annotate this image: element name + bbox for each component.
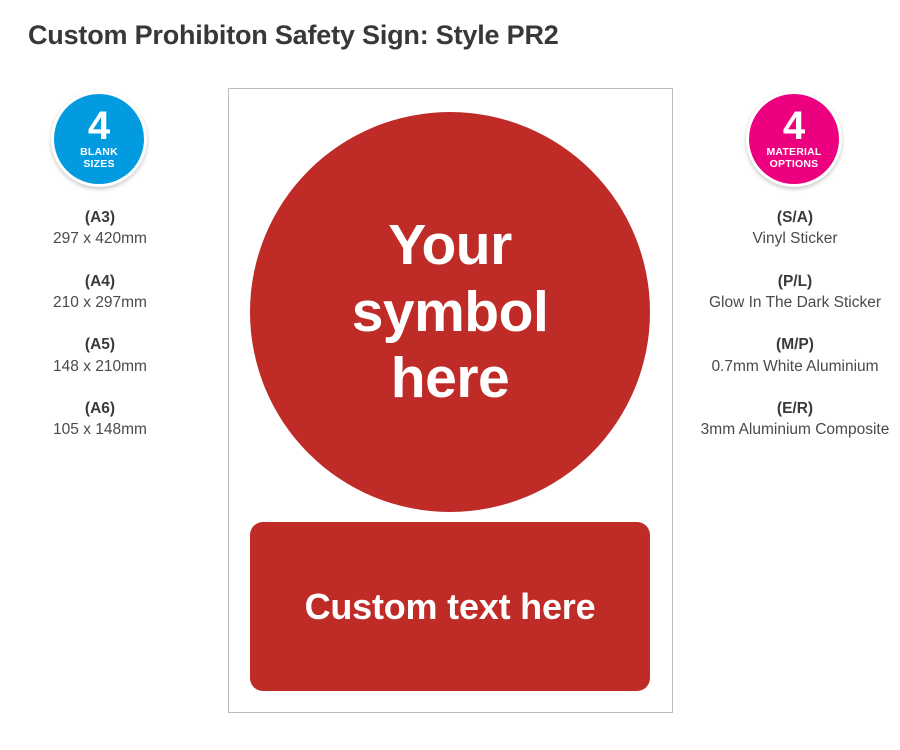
sign-product-page: Custom Prohibiton Safety Sign: Style PR2… [0, 0, 900, 750]
size-option-item: (A6) 105 x 148mm [5, 397, 195, 441]
badge-material-options-caption: MATERIAL OPTIONS [766, 147, 821, 171]
sign-symbol-area: Your symbol here [250, 112, 650, 512]
size-options-list: (A3) 297 x 420mm (A4) 210 x 297mm (A5) 1… [5, 206, 195, 461]
badge-blank-sizes: 4 BLANK SIZES [51, 91, 147, 187]
size-option-desc: 210 x 297mm [5, 293, 195, 313]
size-option-item: (A3) 297 x 420mm [5, 206, 195, 250]
size-option-code: (A5) [5, 333, 195, 356]
badge-material-options: 4 MATERIAL OPTIONS [746, 91, 842, 187]
badge-material-options-number: 4 [783, 107, 805, 145]
badge-blank-sizes-caption: BLANK SIZES [80, 147, 118, 171]
material-option-item: (E/R) 3mm Aluminium Composite [700, 397, 890, 441]
size-option-desc: 297 x 420mm [5, 229, 195, 249]
sign-symbol-placeholder-label: Your symbol here [300, 212, 600, 412]
material-option-code: (S/A) [700, 206, 890, 229]
page-title: Custom Prohibiton Safety Sign: Style PR2 [28, 20, 559, 51]
badge-material-options-caption-line2: OPTIONS [770, 158, 819, 170]
sign-text-area: Custom text here [250, 522, 650, 691]
size-option-code: (A4) [5, 270, 195, 293]
material-option-item: (S/A) Vinyl Sticker [700, 206, 890, 250]
badge-blank-sizes-caption-line1: BLANK [80, 146, 118, 158]
size-option-code: (A6) [5, 397, 195, 420]
badge-material-options-caption-line1: MATERIAL [766, 146, 821, 158]
sign-preview: Your symbol here Custom text here [228, 88, 673, 713]
material-option-desc: Vinyl Sticker [700, 229, 890, 249]
material-option-code: (M/P) [700, 333, 890, 356]
badge-blank-sizes-caption-line2: SIZES [83, 158, 114, 170]
size-option-desc: 105 x 148mm [5, 420, 195, 440]
material-option-desc: 3mm Aluminium Composite [700, 420, 890, 440]
badge-blank-sizes-number: 4 [88, 107, 110, 145]
size-option-code: (A3) [5, 206, 195, 229]
material-option-item: (M/P) 0.7mm White Aluminium [700, 333, 890, 377]
material-option-item: (P/L) Glow In The Dark Sticker [700, 270, 890, 314]
size-option-item: (A5) 148 x 210mm [5, 333, 195, 377]
material-option-code: (E/R) [700, 397, 890, 420]
material-option-code: (P/L) [700, 270, 890, 293]
size-option-item: (A4) 210 x 297mm [5, 270, 195, 314]
material-option-desc: 0.7mm White Aluminium [700, 357, 890, 377]
material-option-desc: Glow In The Dark Sticker [700, 293, 890, 313]
material-options-list: (S/A) Vinyl Sticker (P/L) Glow In The Da… [700, 206, 890, 461]
size-option-desc: 148 x 210mm [5, 357, 195, 377]
sign-custom-text-placeholder-label: Custom text here [305, 586, 596, 628]
